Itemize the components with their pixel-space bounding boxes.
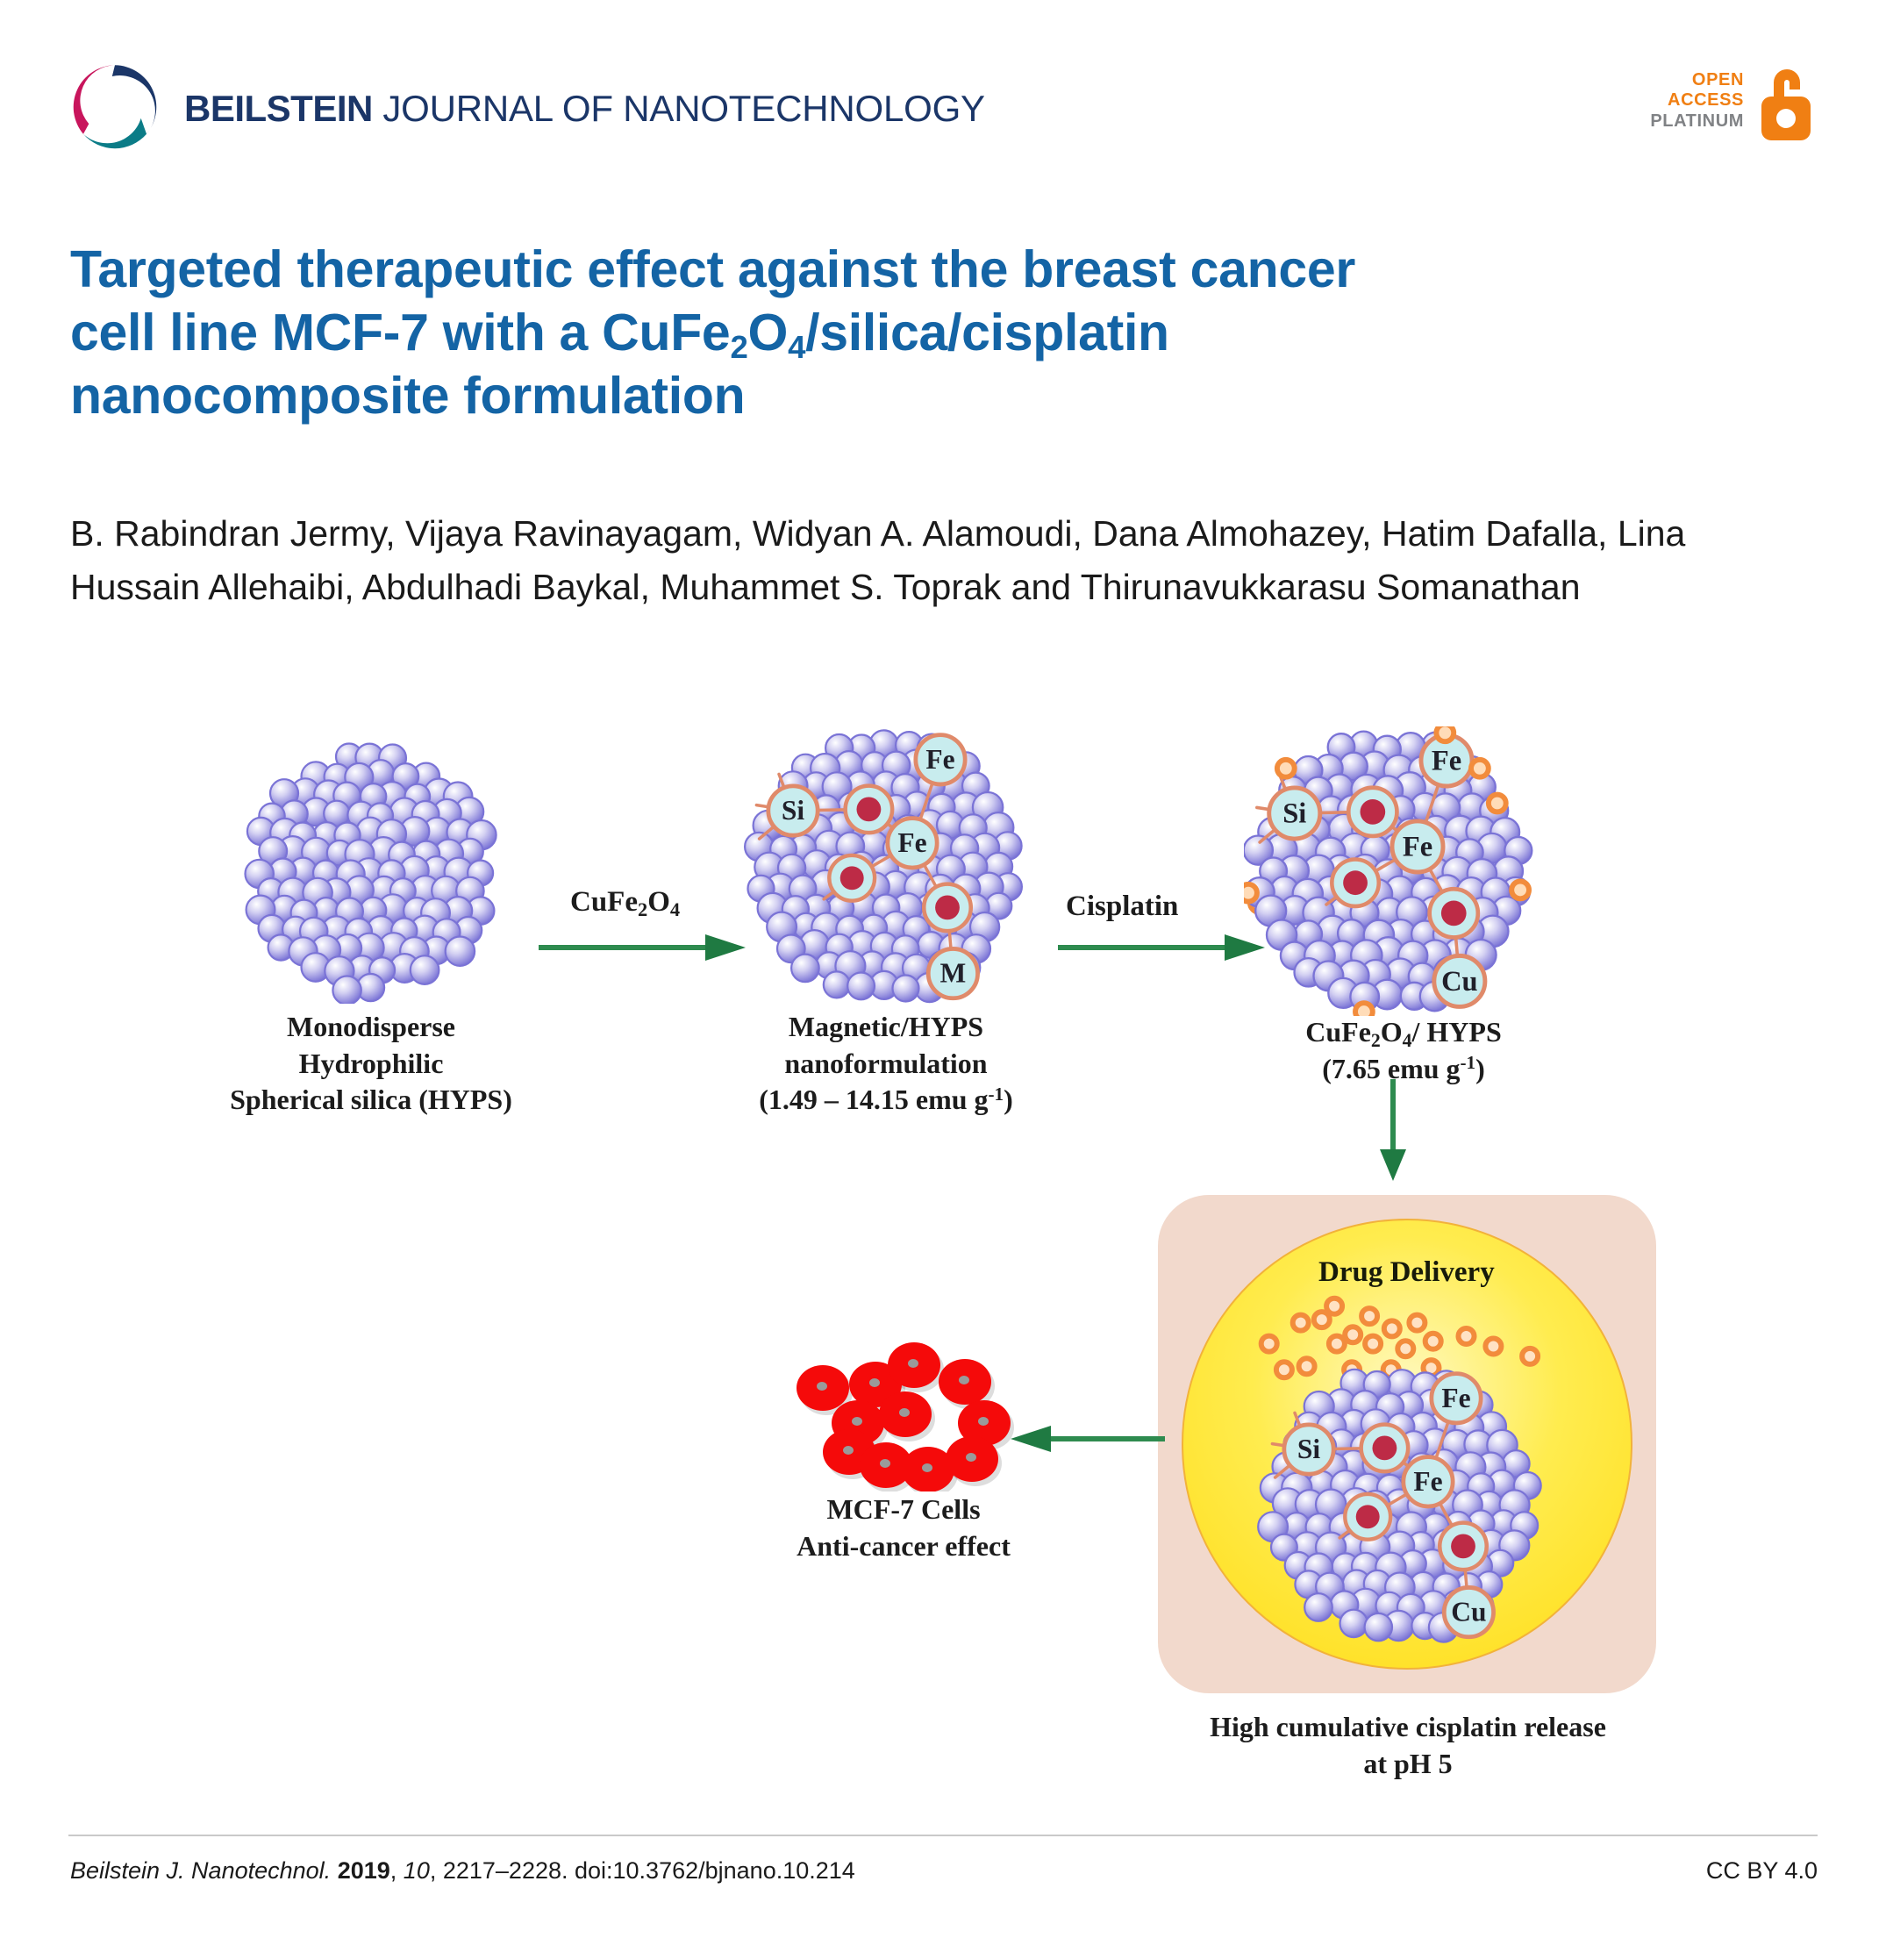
svg-text:M: M <box>940 958 967 989</box>
title-line-2-c: /silica/cisplatin <box>805 304 1169 361</box>
citation-year: 2019 <box>338 1857 390 1884</box>
arrow1-label-a: CuFe <box>570 886 638 918</box>
arrow2-label-text: Cisplatin <box>1066 891 1178 922</box>
label-step1-line1: Monodisperse <box>287 1011 455 1042</box>
brand-light: JOURNAL OF NANOTECHNOLOGY <box>373 88 985 129</box>
mcf7-label-line2: Anti-cancer effect <box>797 1530 1011 1562</box>
label-mcf7-cells: MCF-7 Cells Anti-cancer effect <box>746 1491 1061 1564</box>
title-line-3: nanocomposite formulation <box>70 367 745 425</box>
drug-delivery-title: Drug Delivery <box>1318 1256 1495 1289</box>
label-step2-sup: -1 <box>989 1084 1004 1105</box>
svg-text:Fe: Fe <box>1403 831 1432 862</box>
svg-text:Fe: Fe <box>925 744 954 775</box>
title-line-2-a: cell line MCF-7 with a CuFe <box>70 304 730 361</box>
magnetic-cluster-icon: SiFeFeM <box>744 726 1025 1007</box>
citation-rest: , 2217–2228. doi:10.3762/bjnano.10.214 <box>430 1857 855 1884</box>
svg-text:Fe: Fe <box>1441 1383 1470 1413</box>
label-step3-line1-b: O <box>1381 1016 1403 1048</box>
label-step3-line1-c: / HYPS <box>1412 1016 1502 1048</box>
label-step2: Magnetic/HYPS nanoformulation (1.49 – 14… <box>724 1009 1048 1119</box>
author-list: B. Rabindran Jermy, Vijaya Ravinayagam, … <box>70 507 1737 613</box>
delivery-caption-line2: at pH 5 <box>1363 1748 1452 1779</box>
arrow1-label-b: O <box>647 886 670 918</box>
silica-cluster-icon <box>244 740 498 1004</box>
label-step1-line2: Hydrophilic <box>299 1048 444 1079</box>
label-delivery-caption: High cumulative cisplatin release at pH … <box>1127 1709 1689 1782</box>
citation-journal: Beilstein J. Nanotechnol. <box>70 1857 331 1884</box>
label-step3-sub-2: 2 <box>1371 1030 1381 1051</box>
drug-delivery-panel: SiFeFeCu Drug Delivery <box>1156 1193 1658 1695</box>
oa-line-platinum: PLATINUM <box>1650 111 1744 132</box>
arrow-down-icon <box>1373 1077 1413 1183</box>
arrow-right-icon-2 <box>1056 930 1267 965</box>
page-title: Targeted therapeutic effect against the … <box>70 239 1614 428</box>
nanoparticle-cluster-magnetic: SiFeFeM <box>744 726 1025 1007</box>
svg-text:Si: Si <box>1282 798 1306 829</box>
mcf7-cells-icon <box>781 1342 1018 1491</box>
svg-text:Fe: Fe <box>897 827 926 858</box>
open-access-words: OPEN ACCESS PLATINUM <box>1650 70 1744 132</box>
svg-text:Si: Si <box>782 795 805 826</box>
label-step3-line2-b: ) <box>1475 1053 1485 1084</box>
citation-volume: 10 <box>404 1857 430 1884</box>
article-cover-page: BEILSTEIN JOURNAL OF NANOTECHNOLOGY OPEN… <box>0 0 1886 1960</box>
graphical-abstract: Monodisperse Hydrophilic Spherical silic… <box>0 719 1886 1807</box>
label-step2-line1: Magnetic/HYPS <box>789 1011 983 1042</box>
svg-text:Fe: Fe <box>1413 1466 1442 1497</box>
arrow-right-icon-1 <box>537 930 747 965</box>
oa-line-open: OPEN <box>1692 70 1744 90</box>
journal-brand[interactable]: BEILSTEIN JOURNAL OF NANOTECHNOLOGY <box>68 61 985 154</box>
citation-line: Beilstein J. Nanotechnol. 2019, 10, 2217… <box>70 1857 855 1885</box>
label-step3-sup: -1 <box>1461 1052 1476 1073</box>
label-step1-line3: Spherical silica (HYPS) <box>230 1084 512 1115</box>
title-line-2-b: O <box>748 304 789 361</box>
nanoparticle-cluster-cufe2o4: SiFeFeCu <box>1244 726 1533 1016</box>
title-line-1: Targeted therapeutic effect against the … <box>70 240 1355 298</box>
brand-bold: BEILSTEIN <box>184 88 373 129</box>
title-sub-2: 2 <box>730 329 747 365</box>
arrow1-sub-4: 4 <box>670 898 680 920</box>
label-step3: CuFe2O4/ HYPS (7.65 emu g-1) <box>1228 1014 1579 1087</box>
label-step1: Monodisperse Hydrophilic Spherical silic… <box>218 1009 525 1119</box>
license-label: CC BY 4.0 <box>1706 1857 1818 1885</box>
open-padlock-icon <box>1754 60 1818 142</box>
label-step2-line2: nanoformulation <box>784 1048 987 1079</box>
label-step3-line1-a: CuFe <box>1305 1016 1371 1048</box>
arrow2-label: Cisplatin <box>1066 891 1178 923</box>
footer-divider <box>68 1835 1818 1836</box>
mcf7-label-line1: MCF-7 Cells <box>826 1493 980 1525</box>
journal-title-text: BEILSTEIN JOURNAL OF NANOTECHNOLOGY <box>184 87 985 127</box>
cufe2o4-cluster-icon: SiFeFeCu <box>1244 726 1533 1016</box>
svg-text:Fe: Fe <box>1432 745 1461 776</box>
title-sub-4: 4 <box>788 329 805 365</box>
svg-text:Cu: Cu <box>1451 1597 1486 1627</box>
label-step3-sub-4: 4 <box>1403 1030 1412 1051</box>
delivery-caption-line1: High cumulative cisplatin release <box>1210 1711 1606 1742</box>
label-step2-line3-b: ) <box>1004 1084 1013 1115</box>
oa-line-access: ACCESS <box>1668 90 1744 111</box>
label-step2-line3-a: (1.49 – 14.15 emu g <box>759 1084 988 1115</box>
arrow-left-icon <box>1009 1421 1167 1456</box>
beilstein-spiral-logo-icon <box>68 61 161 154</box>
arrow1-label: CuFe2O4 <box>570 886 680 919</box>
arrow1-sub-2: 2 <box>638 898 647 920</box>
citation-comma: , <box>390 1857 397 1884</box>
svg-text:Si: Si <box>1297 1434 1321 1464</box>
masthead: BEILSTEIN JOURNAL OF NANOTECHNOLOGY OPEN… <box>68 54 1818 160</box>
open-access-badge[interactable]: OPEN ACCESS PLATINUM <box>1650 60 1818 142</box>
nanoparticle-cluster-silica <box>244 740 498 1004</box>
svg-text:Cu: Cu <box>1441 966 1478 998</box>
